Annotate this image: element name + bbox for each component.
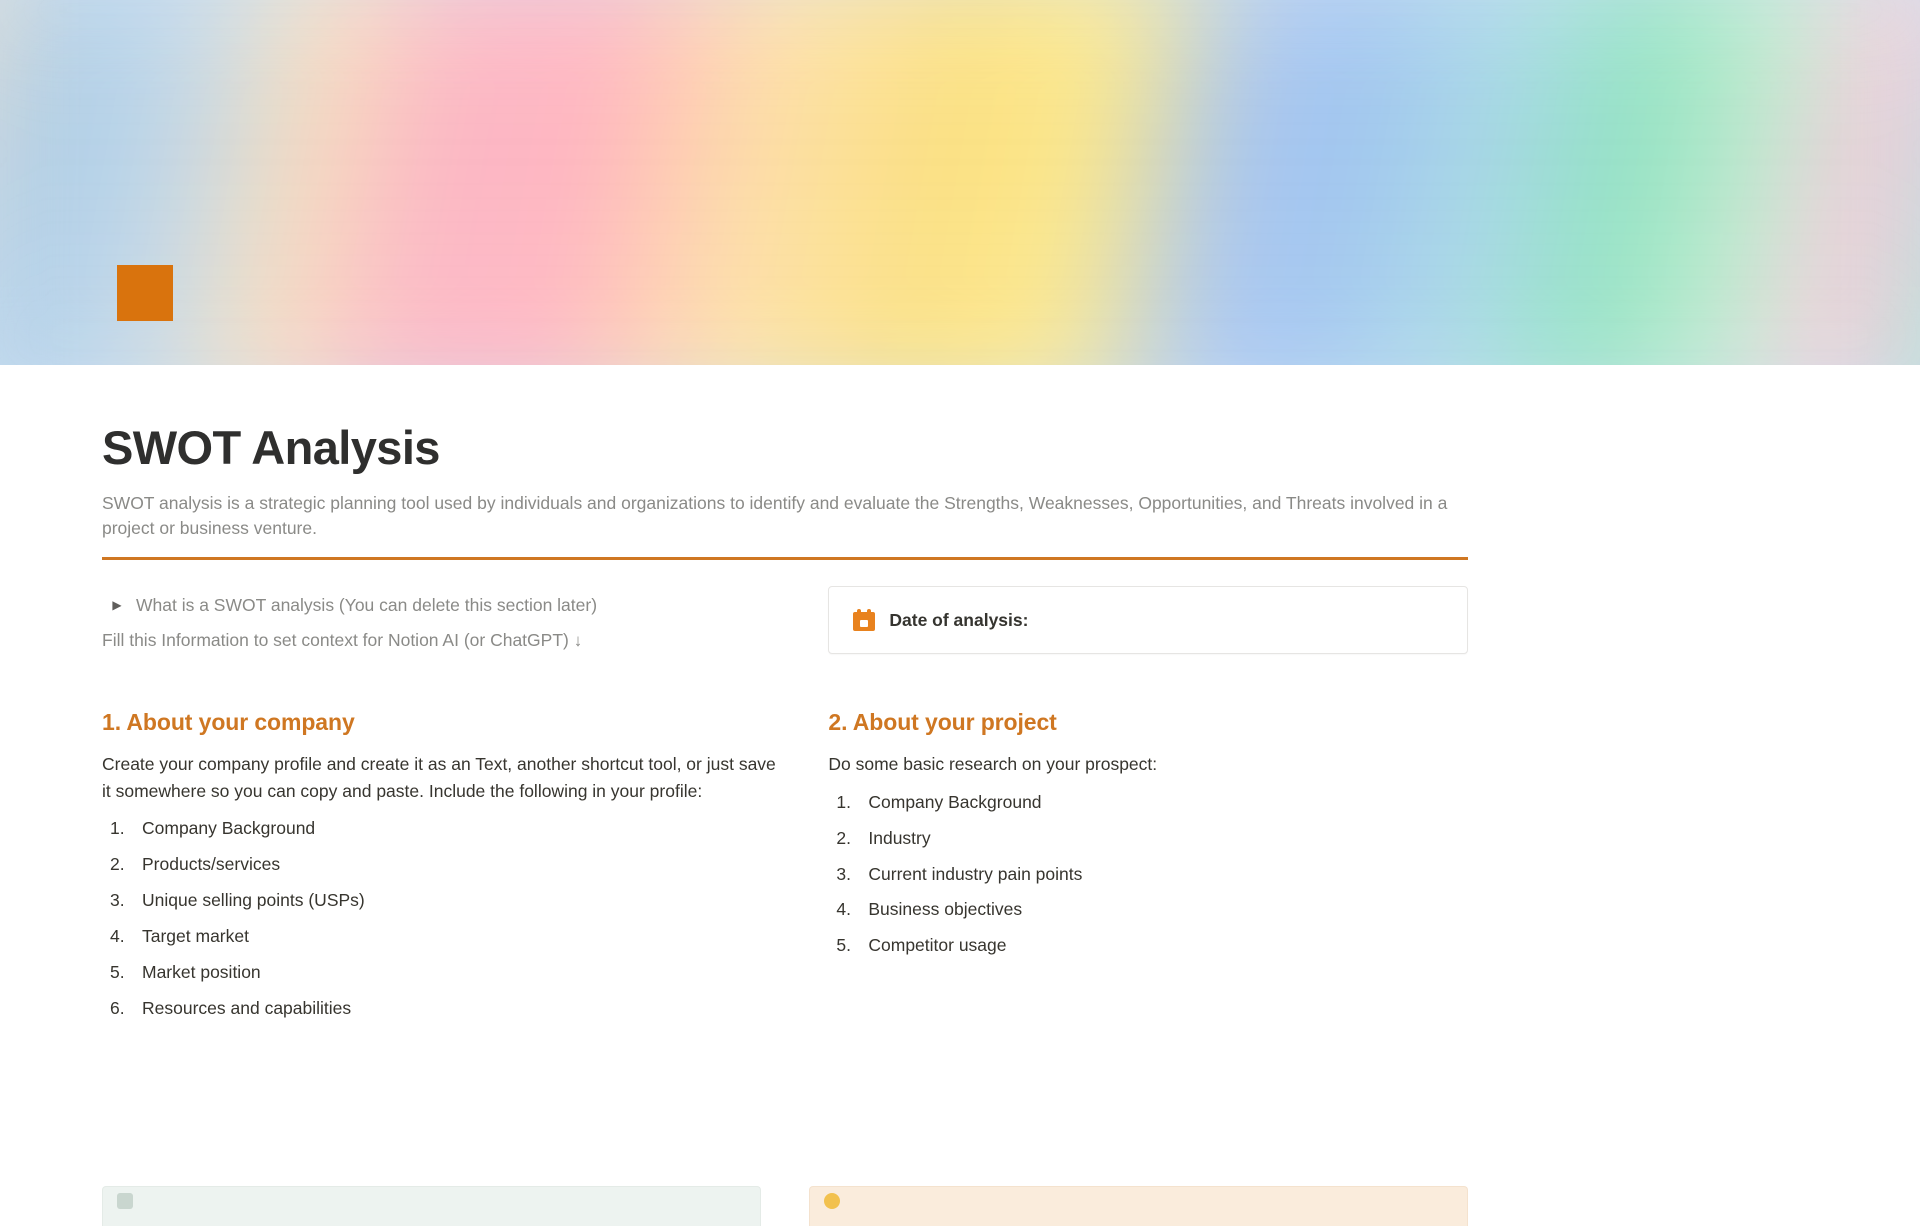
toggle-block[interactable]: ▶ What is a SWOT analysis (You can delet… (102, 592, 780, 618)
two-column-section: 1. About your company Create your compan… (102, 708, 1468, 1031)
list-item[interactable]: Resources and capabilities (102, 996, 780, 1021)
date-of-analysis-label: Date of analysis: (889, 610, 1028, 631)
about-company-heading: 1. About your company (102, 708, 780, 738)
chevron-right-icon[interactable]: ▶ (110, 592, 124, 618)
about-project-list: Company Background Industry Current indu… (828, 790, 1468, 959)
list-item[interactable]: Company Background (828, 790, 1468, 815)
list-item[interactable]: Competitor usage (828, 933, 1468, 958)
list-item[interactable]: Current industry pain points (828, 862, 1468, 887)
about-company-column: 1. About your company Create your compan… (102, 708, 780, 1031)
page-description: SWOT analysis is a strategic planning to… (102, 491, 1468, 542)
callout-icon (824, 1193, 840, 1209)
list-item[interactable]: Target market (102, 924, 780, 949)
callout-icon (117, 1193, 133, 1209)
about-project-heading: 2. About your project (828, 708, 1468, 738)
list-item[interactable]: Unique selling points (USPs) (102, 888, 780, 913)
page-title: SWOT Analysis (102, 422, 1468, 475)
fill-information-note: Fill this Information to set context for… (102, 627, 780, 654)
about-project-column: 2. About your project Do some basic rese… (828, 708, 1468, 1031)
list-item[interactable]: Industry (828, 826, 1468, 851)
page-icon[interactable] (117, 265, 173, 321)
date-of-analysis-callout[interactable]: Date of analysis: (828, 586, 1468, 654)
about-company-paragraph: Create your company profile and create i… (102, 751, 780, 804)
page-body: SWOT Analysis SWOT analysis is a strateg… (0, 422, 1920, 1032)
bottom-callout-row (102, 1186, 1468, 1226)
arrow-down-icon: ↓ (574, 631, 583, 650)
list-item[interactable]: Business objectives (828, 897, 1468, 922)
strengths-callout[interactable] (102, 1186, 761, 1226)
weaknesses-callout[interactable] (809, 1186, 1468, 1226)
list-item[interactable]: Company Background (102, 816, 780, 841)
list-item[interactable]: Products/services (102, 852, 780, 877)
page-cover (0, 0, 1920, 365)
orange-divider (102, 557, 1468, 560)
cover-gradient-sheen (0, 0, 1920, 365)
upper-row: ▶ What is a SWOT analysis (You can delet… (102, 586, 1468, 654)
upper-left-column: ▶ What is a SWOT analysis (You can delet… (102, 586, 780, 654)
calendar-icon (853, 609, 875, 631)
toggle-label[interactable]: What is a SWOT analysis (You can delete … (136, 592, 597, 618)
about-project-paragraph: Do some basic research on your prospect: (828, 751, 1468, 778)
upper-right-column: Date of analysis: (828, 586, 1468, 654)
fill-information-text: Fill this Information to set context for… (102, 630, 569, 650)
about-company-list: Company Background Products/services Uni… (102, 816, 780, 1021)
list-item[interactable]: Market position (102, 960, 780, 985)
